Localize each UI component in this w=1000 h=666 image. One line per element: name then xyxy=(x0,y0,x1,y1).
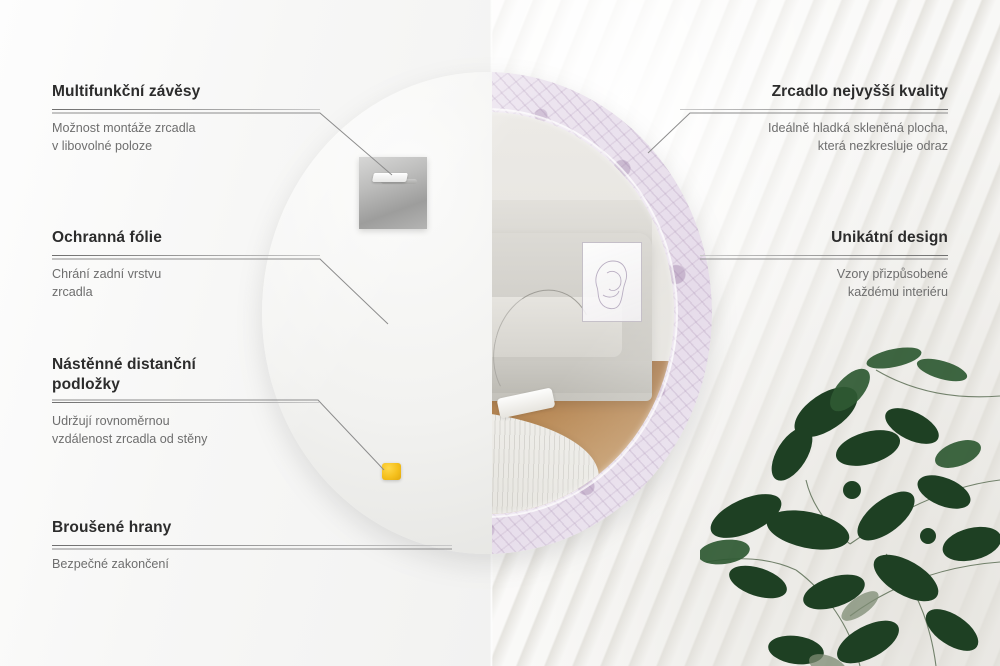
callout-divider xyxy=(52,255,320,256)
wall-distance-spacer xyxy=(382,463,401,480)
callout-divider xyxy=(52,402,320,403)
infographic-canvas: Multifunkční závěsy Možnost montáže zrca… xyxy=(0,0,1000,666)
callout-title: Nástěnné distanční podložky xyxy=(52,355,320,395)
callout-description: Možnost montáže zrcadla v libovolné polo… xyxy=(52,119,320,155)
callout-title: Broušené hrany xyxy=(52,518,452,538)
plant-foliage xyxy=(700,330,1000,666)
callout-title: Unikátní design xyxy=(700,228,948,248)
callout-title: Ochranná fólie xyxy=(52,228,320,248)
callout-divider xyxy=(52,109,320,110)
callout-description: Udržují rovnoměrnou vzdálenost zrcadla o… xyxy=(52,412,320,448)
callout-multifunkcni-zavesy: Multifunkční závěsy Možnost montáže zrca… xyxy=(52,82,320,155)
callout-description: Ideálně hladká skleněná plocha, která ne… xyxy=(680,119,948,155)
callout-description: Bezpečné zakončení xyxy=(52,555,452,573)
reflected-line-art-picture xyxy=(582,242,642,322)
callout-divider xyxy=(680,109,948,110)
callout-divider xyxy=(700,255,948,256)
callout-title: Zrcadlo nejvyšší kvality xyxy=(680,82,948,102)
callout-nastenne-distancni-podlozky: Nástěnné distanční podložky Udržují rovn… xyxy=(52,355,320,449)
callout-ochranna-folie: Ochranná fólie Chrání zadní vrstvu zrcad… xyxy=(52,228,320,301)
callout-description: Chrání zadní vrstvu zrcadla xyxy=(52,265,320,301)
callout-title: Multifunkční závěsy xyxy=(52,82,320,102)
callout-unikatni-design: Unikátní design Vzory přizpůsobené každé… xyxy=(700,228,948,301)
wall-hanger-bracket xyxy=(359,157,427,229)
callout-zrcadlo-nejvyssi-kvality: Zrcadlo nejvyšší kvality Ideálně hladká … xyxy=(680,82,948,155)
hanger-keyhole-slot xyxy=(372,173,408,182)
callout-brousene-hrany: Broušené hrany Bezpečné zakončení xyxy=(52,518,452,573)
callout-description: Vzory přizpůsobené každému interiéru xyxy=(700,265,948,301)
mirror-product xyxy=(262,72,712,554)
callout-divider xyxy=(52,545,452,546)
